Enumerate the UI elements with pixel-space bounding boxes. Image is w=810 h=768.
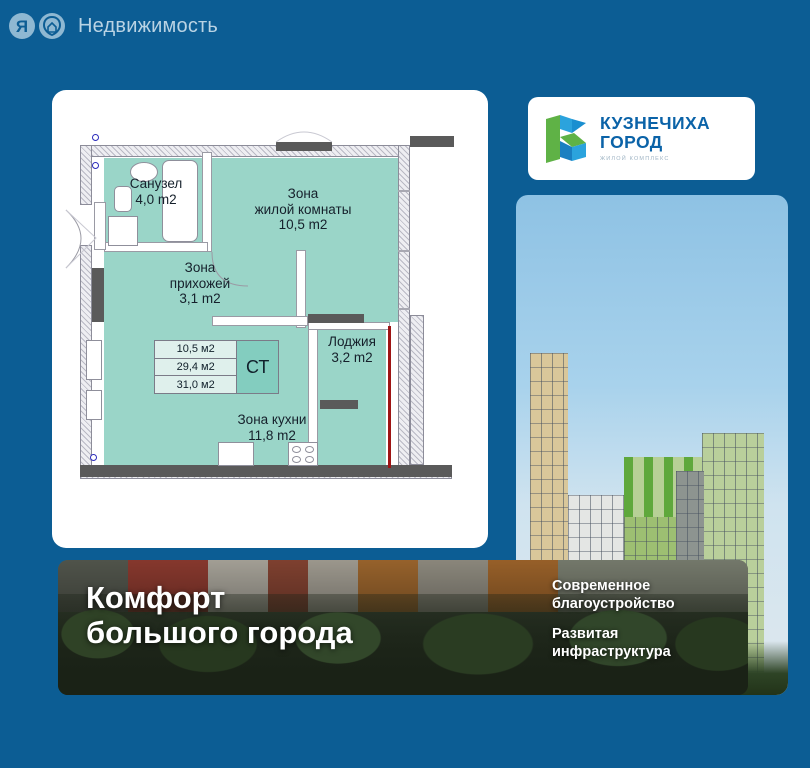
banner-title: Комфорт большого города <box>86 580 353 650</box>
developer-logo-card[interactable]: КУЗНЕЧИХА ГОРОД ЖИЛОЙ КОМПЛЕКС <box>528 97 755 180</box>
page-header: Я Недвижимость <box>0 0 810 52</box>
cooktop-burner-4 <box>305 456 314 463</box>
riser-shaft-fixture <box>86 340 102 380</box>
brand-label: Недвижимость <box>78 15 218 38</box>
riser-shaft-fixture-2 <box>86 390 102 420</box>
door-swing-arcs <box>52 90 488 548</box>
kitchen-sink-fixture <box>218 442 254 466</box>
yandex-ya-letter: Я <box>16 18 28 35</box>
banner-feature-1-line1: Современное <box>552 578 675 596</box>
label-bathroom: Санузел 4,0 m2 <box>104 176 208 207</box>
cooktop-burner-1 <box>292 446 301 453</box>
label-living-area: 10,5 m2 <box>208 217 398 233</box>
area-summary-box: 10,5 м2 29,4 м2 31,0 м2 СТ <box>154 340 279 394</box>
dimension-dot-1 <box>92 134 99 141</box>
label-kitchen-title: Зона кухни <box>192 412 352 428</box>
developer-logo-text: КУЗНЕЧИХА ГОРОД ЖИЛОЙ КОМПЛЕКС <box>600 115 710 163</box>
label-loggia-title: Лоджия <box>314 334 390 350</box>
label-bathroom-title: Санузел <box>104 176 208 192</box>
label-hallway-area: 3,1 m2 <box>110 291 290 307</box>
cooktop-burner-2 <box>305 446 314 453</box>
developer-subtitle: ЖИЛОЙ КОМПЛЕКС <box>600 157 710 163</box>
label-hallway-title1: Зона <box>110 260 290 276</box>
banner-feature-1-line2: благоустройство <box>552 596 675 614</box>
dimension-dot-3 <box>90 454 97 461</box>
apartment-type-badge: СТ <box>236 341 278 393</box>
yandex-realty-logo[interactable]: Я Недвижимость <box>9 13 218 39</box>
yandex-logo-icon: Я <box>9 13 35 39</box>
label-living-title2: жилой комнаты <box>208 202 398 218</box>
developer-name-line2: ГОРОД <box>600 134 710 152</box>
banner-feature-2-line1: Развитая <box>552 626 675 644</box>
label-loggia: Лоджия 3,2 m2 <box>314 334 390 365</box>
realty-pin-icon <box>39 13 65 39</box>
area-summary-rows: 10,5 м2 29,4 м2 31,0 м2 <box>155 341 236 393</box>
bottom-banner[interactable]: Комфорт большого города Современное благ… <box>58 560 748 695</box>
label-living-zone: Зона жилой комнаты 10,5 m2 <box>208 186 398 233</box>
dimension-dot-2 <box>92 162 99 169</box>
banner-title-line2: большого города <box>86 615 353 650</box>
label-loggia-area: 3,2 m2 <box>314 350 390 366</box>
label-hallway-title2: прихожей <box>110 276 290 292</box>
floorplan-card[interactable]: Санузел 4,0 m2 Зона жилой комнаты 10,5 m… <box>52 90 488 548</box>
cooktop-burner-3 <box>292 456 301 463</box>
cooktop-fixture <box>288 442 318 466</box>
area-row-living-total: 29,4 м2 <box>155 359 236 377</box>
banner-title-line1: Комфорт <box>86 580 353 615</box>
floorplan-canvas: Санузел 4,0 m2 Зона жилой комнаты 10,5 m… <box>52 90 488 548</box>
washer-fixture <box>108 216 138 246</box>
banner-feature-1: Современное благоустройство <box>552 578 675 613</box>
label-kitchen-area: 11,8 m2 <box>192 428 352 444</box>
banner-feature-list: Современное благоустройство Развитая инф… <box>552 578 675 661</box>
kuznechiha-k-mark-icon <box>542 113 590 165</box>
label-bathroom-area: 4,0 m2 <box>104 192 208 208</box>
label-kitchen: Зона кухни 11,8 m2 <box>192 412 352 443</box>
banner-feature-2-line2: инфраструктура <box>552 644 675 662</box>
area-row-living: 10,5 м2 <box>155 341 236 359</box>
area-row-total: 31,0 м2 <box>155 376 236 393</box>
developer-name-line1: КУЗНЕЧИХА <box>600 115 710 133</box>
banner-feature-2: Развитая инфраструктура <box>552 626 675 661</box>
label-living-title1: Зона <box>208 186 398 202</box>
label-hallway: Зона прихожей 3,1 m2 <box>110 260 290 307</box>
